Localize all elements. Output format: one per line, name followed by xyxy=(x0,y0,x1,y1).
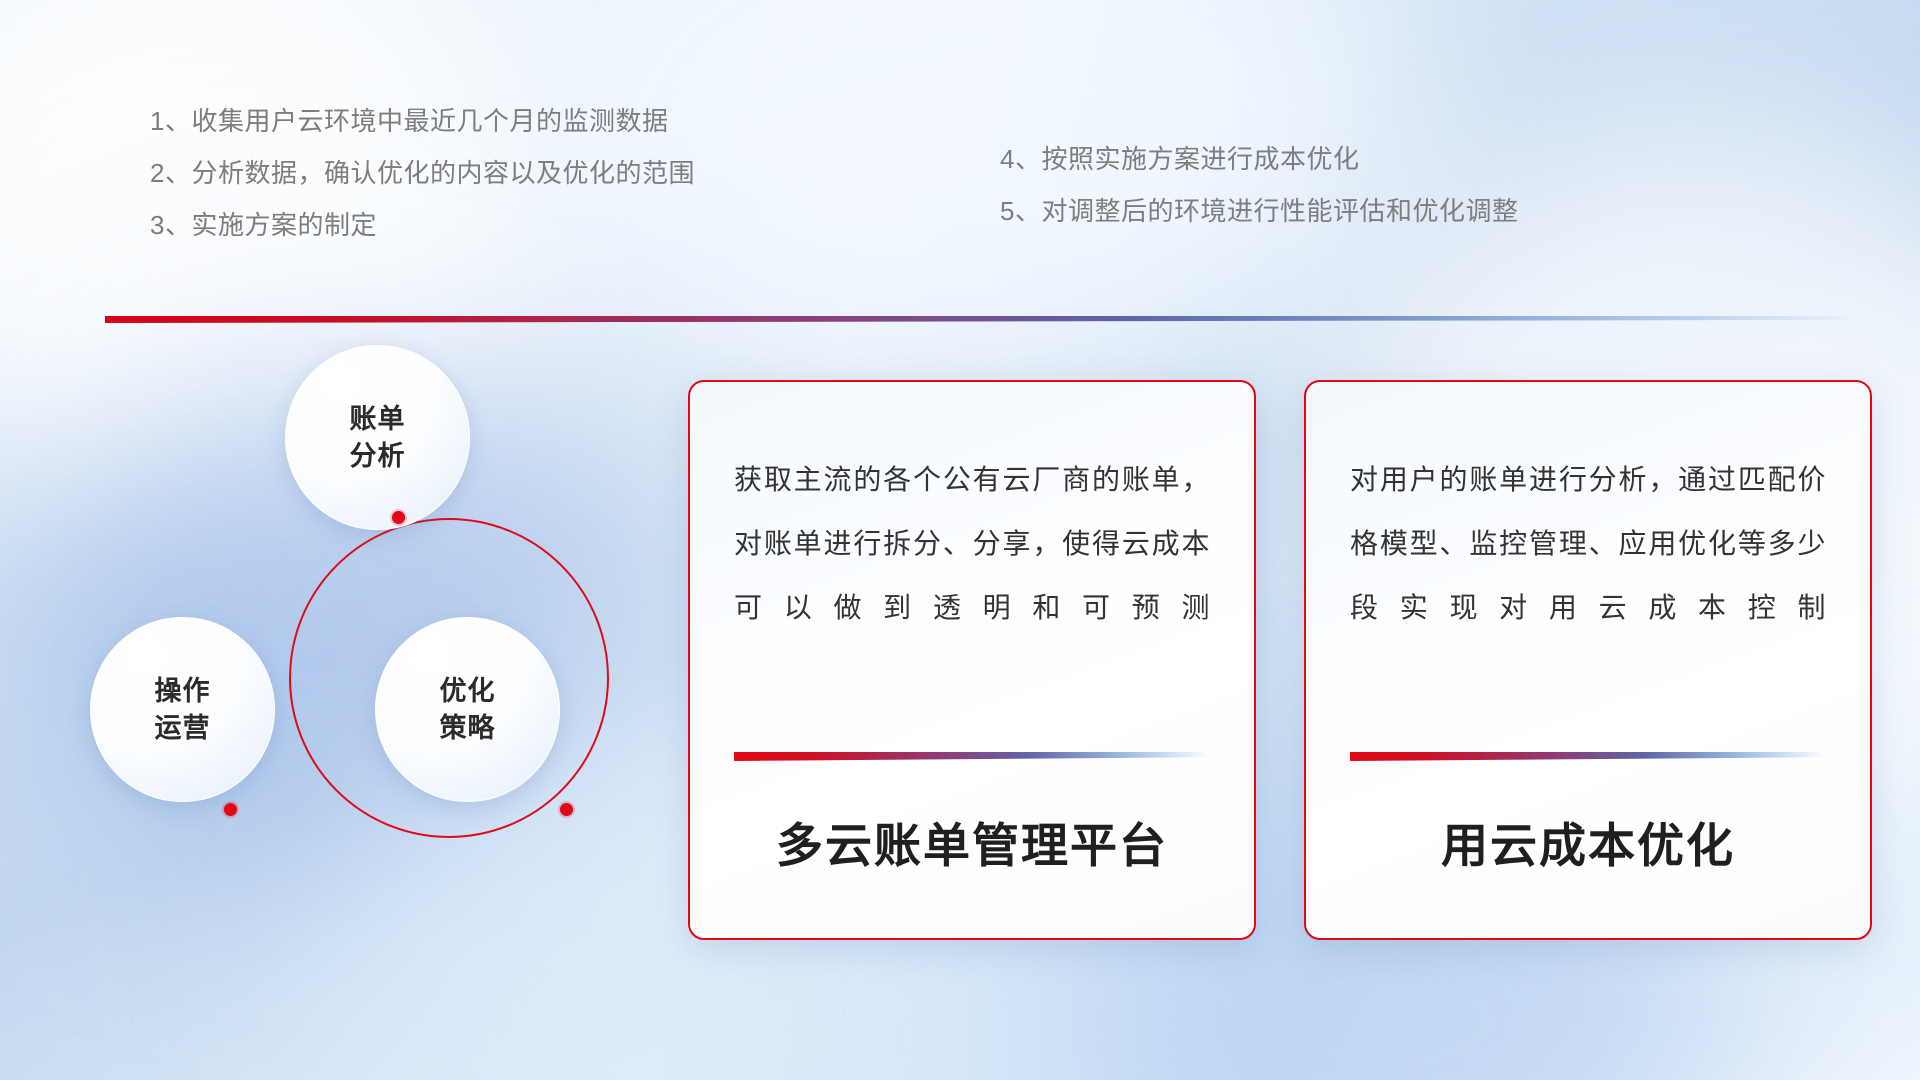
venn-bubble-operations[interactable]: 操作 运营 xyxy=(90,617,275,802)
steps-column-right: 4、按照实施方案进行成本优化 5、对调整后的环境进行性能评估和优化调整 xyxy=(1000,133,1518,237)
card-2-body-text: 对用户的账单进行分析，通过匹配价格模型、监控管理、应用优化等多少段实现对用云成本… xyxy=(1350,448,1826,640)
venn-node-dot-right xyxy=(560,803,573,816)
venn-bubble-top-line-1: 账单 xyxy=(350,401,406,437)
venn-bubble-right-line-2: 策略 xyxy=(440,710,496,746)
card-2-title: 用云成本优化 xyxy=(1350,761,1826,938)
step-item-1: 1、收集用户云环境中最近几个月的监测数据 xyxy=(150,95,695,147)
steps-section: 1、收集用户云环境中最近几个月的监测数据 2、分析数据，确认优化的内容以及优化的… xyxy=(0,95,1920,255)
venn-bubble-left-line-2: 运营 xyxy=(155,710,211,746)
step-item-4: 4、按照实施方案进行成本优化 xyxy=(1000,133,1518,185)
venn-diagram: 持续 运营 账单 分析 操作 运营 优化 策略 xyxy=(100,355,660,955)
venn-bubble-top-line-2: 分析 xyxy=(350,438,406,474)
card-1-body-text: 获取主流的各个公有云厂商的账单，对账单进行拆分、分享，使得云成本可以做到透明和可… xyxy=(734,448,1210,640)
card-2-accent-rule xyxy=(1350,752,1826,761)
venn-node-dot-left xyxy=(224,803,237,816)
card-multicloud-billing-platform[interactable]: 获取主流的各个公有云厂商的账单，对账单进行拆分、分享，使得云成本可以做到透明和可… xyxy=(688,380,1256,940)
step-item-2: 2、分析数据，确认优化的内容以及优化的范围 xyxy=(150,147,695,199)
venn-bubble-billing-analysis[interactable]: 账单 分析 xyxy=(285,345,470,530)
card-1-accent-rule xyxy=(734,752,1210,761)
venn-bubble-top-label: 账单 分析 xyxy=(285,345,470,530)
card-1-title: 多云账单管理平台 xyxy=(734,761,1210,938)
venn-bubble-right-line-1: 优化 xyxy=(440,673,496,709)
venn-bubble-optimization-strategy[interactable]: 优化 策略 xyxy=(375,617,560,802)
venn-bubble-left-label: 操作 运营 xyxy=(90,617,275,802)
step-item-3: 3、实施方案的制定 xyxy=(150,199,695,251)
venn-bubble-left-line-1: 操作 xyxy=(155,673,211,709)
venn-node-dot-top xyxy=(392,511,405,524)
card-cloud-cost-optimization[interactable]: 对用户的账单进行分析，通过匹配价格模型、监控管理、应用优化等多少段实现对用云成本… xyxy=(1304,380,1872,940)
step-item-5: 5、对调整后的环境进行性能评估和优化调整 xyxy=(1000,185,1518,237)
venn-bubble-right-label: 优化 策略 xyxy=(375,617,560,802)
steps-column-left: 1、收集用户云环境中最近几个月的监测数据 2、分析数据，确认优化的内容以及优化的… xyxy=(150,95,695,251)
